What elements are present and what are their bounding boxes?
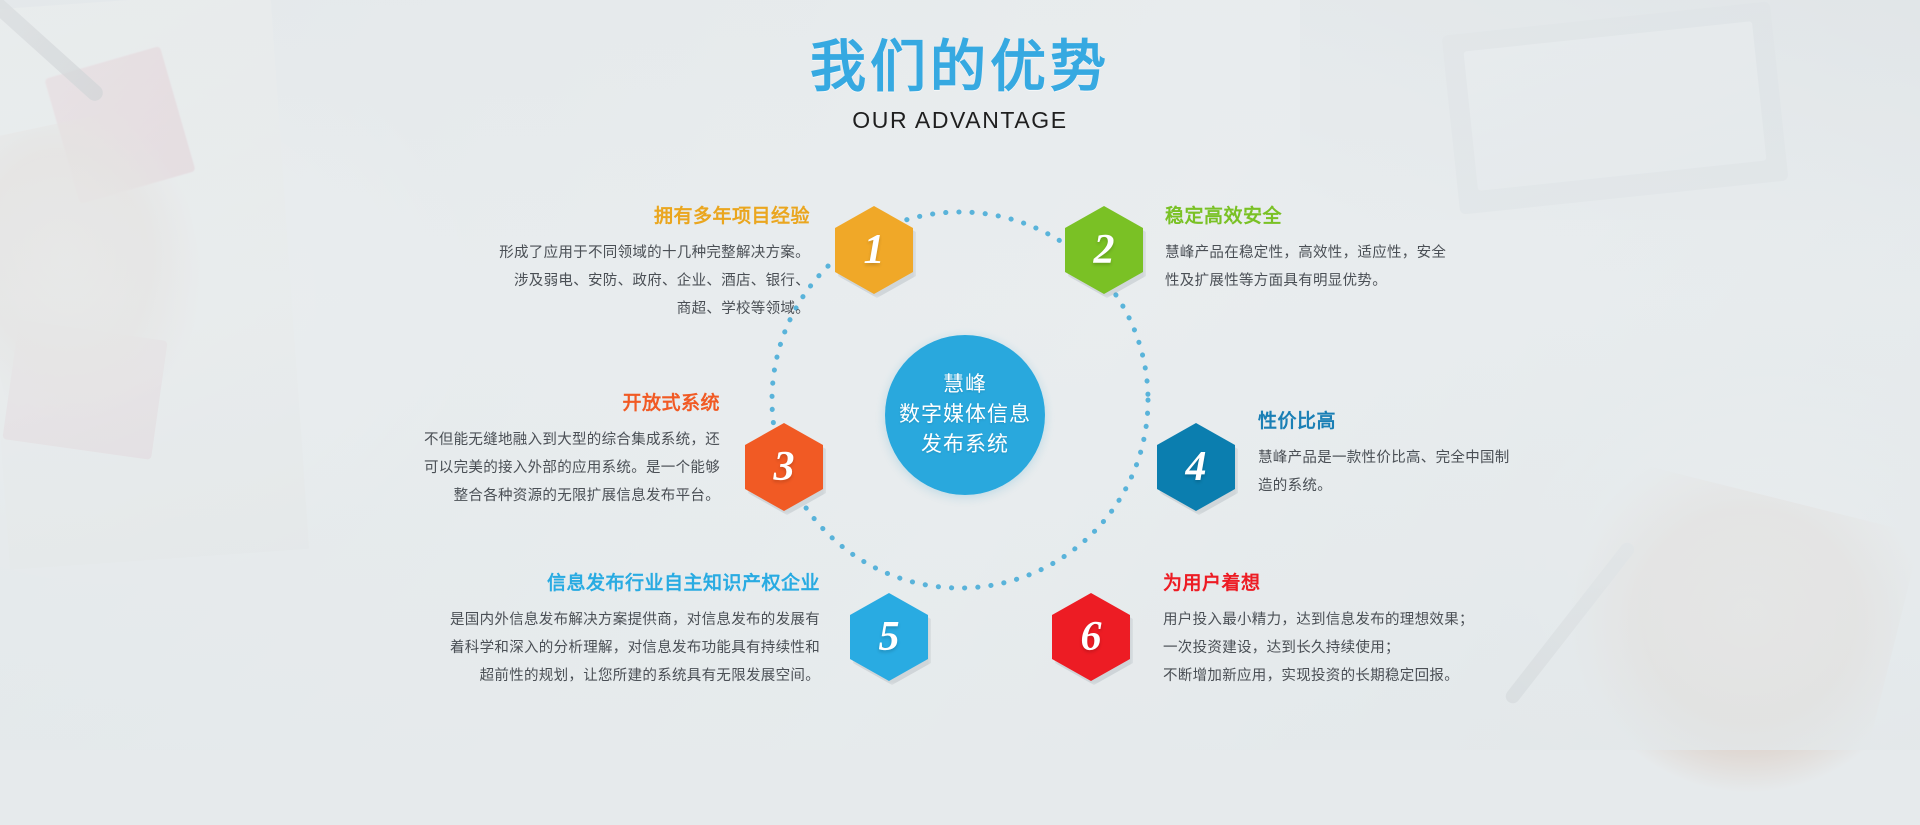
advantage-1-body: 形成了应用于不同领域的十几种完整解决方案。 涉及弱电、安防、政府、企业、酒店、银… — [330, 239, 810, 324]
hexagon-3-number: 3 — [774, 443, 795, 491]
advantage-block-6: 为用户着想 用户投入最小精力，达到信息发布的理想效果； 一次投资建设，达到长久持… — [1163, 572, 1693, 690]
hexagon-6-number: 6 — [1081, 613, 1102, 661]
center-brand-circle: 慧峰 数字媒体信息 发布系统 — [885, 335, 1045, 495]
advantage-block-3: 开放式系统 不但能无缝地融入到大型的综合集成系统，还 可以完美的接入外部的应用系… — [250, 392, 720, 510]
hexagon-2-number: 2 — [1094, 226, 1115, 274]
advantage-1-line-3: 商超、学校等领域。 — [677, 301, 810, 317]
advantage-2-title: 稳定高效安全 — [1165, 205, 1645, 230]
center-line-3: 发布系统 — [921, 430, 1009, 460]
advantage-1-title: 拥有多年项目经验 — [330, 205, 810, 230]
advantage-4-title: 性价比高 — [1258, 410, 1708, 435]
advantage-6-title: 为用户着想 — [1163, 572, 1693, 597]
advantage-6-line-3: 不断增加新应用，实现投资的长期稳定回报。 — [1163, 668, 1459, 684]
advantage-6-body: 用户投入最小精力，达到信息发布的理想效果； 一次投资建设，达到长久持续使用； 不… — [1163, 606, 1693, 691]
advantage-3-line-1: 不但能无缝地融入到大型的综合集成系统，还 — [424, 432, 720, 448]
advantage-1-line-2: 涉及弱电、安防、政府、企业、酒店、银行、 — [514, 273, 810, 289]
advantage-4-line-2: 造的系统。 — [1258, 478, 1332, 494]
hexagon-5-number: 5 — [879, 613, 900, 661]
advantage-5-line-2: 着科学和深入的分析理解，对信息发布功能具有持续性和 — [450, 640, 820, 656]
advantage-4-line-1: 慧峰产品是一款性价比高、完全中国制 — [1258, 450, 1510, 466]
advantage-block-2: 稳定高效安全 慧峰产品在稳定性，高效性，适应性，安全 性及扩展性等方面具有明显优… — [1165, 205, 1645, 295]
advantage-4-body: 慧峰产品是一款性价比高、完全中国制 造的系统。 — [1258, 444, 1708, 501]
center-line-2: 数字媒体信息 — [899, 400, 1031, 430]
advantage-5-title: 信息发布行业自主知识产权企业 — [230, 572, 820, 597]
advantage-3-body: 不但能无缝地融入到大型的综合集成系统，还 可以完美的接入外部的应用系统。是一个能… — [250, 426, 720, 511]
center-line-1: 慧峰 — [943, 370, 987, 400]
advantage-diagram: 慧峰 数字媒体信息 发布系统 1 2 3 4 5 6 拥有多年项目经验 形成了应… — [0, 0, 1920, 750]
advantage-3-title: 开放式系统 — [250, 392, 720, 417]
advantage-block-4: 性价比高 慧峰产品是一款性价比高、完全中国制 造的系统。 — [1258, 410, 1708, 500]
advantage-2-body: 慧峰产品在稳定性，高效性，适应性，安全 性及扩展性等方面具有明显优势。 — [1165, 239, 1645, 296]
hexagon-4-number: 4 — [1186, 443, 1207, 491]
advantage-6-line-2: 一次投资建设，达到长久持续使用； — [1163, 640, 1400, 656]
advantage-3-line-2: 可以完美的接入外部的应用系统。是一个能够 — [424, 460, 720, 476]
advantage-5-line-1: 是国内外信息发布解决方案提供商，对信息发布的发展有 — [450, 612, 820, 628]
advantage-5-line-3: 超前性的规划，让您所建的系统具有无限发展空间。 — [480, 668, 820, 684]
advantage-2-line-2: 性及扩展性等方面具有明显优势。 — [1165, 273, 1387, 289]
advantage-5-body: 是国内外信息发布解决方案提供商，对信息发布的发展有 着科学和深入的分析理解，对信… — [230, 606, 820, 691]
advantage-block-1: 拥有多年项目经验 形成了应用于不同领域的十几种完整解决方案。 涉及弱电、安防、政… — [330, 205, 810, 323]
advantage-6-line-1: 用户投入最小精力，达到信息发布的理想效果； — [1163, 612, 1474, 628]
advantage-block-5: 信息发布行业自主知识产权企业 是国内外信息发布解决方案提供商，对信息发布的发展有… — [230, 572, 820, 690]
advantage-3-line-3: 整合各种资源的无限扩展信息发布平台。 — [454, 488, 720, 504]
advantage-1-line-1: 形成了应用于不同领域的十几种完整解决方案。 — [499, 245, 810, 261]
hexagon-1-number: 1 — [864, 226, 885, 274]
advantage-2-line-1: 慧峰产品在稳定性，高效性，适应性，安全 — [1165, 245, 1446, 261]
